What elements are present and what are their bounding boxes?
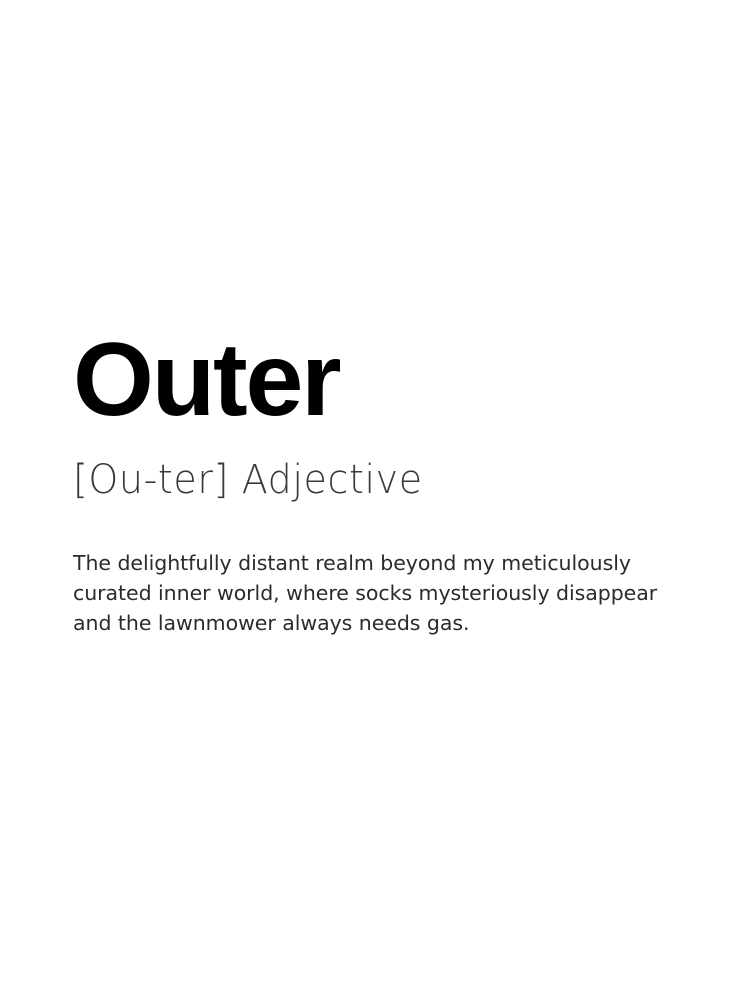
pronunciation-spacer (229, 456, 242, 503)
definition-content-block: Outer [Ou-ter] Adjective The delightfull… (73, 330, 673, 638)
definition-line: and the lawnmower always needs gas. (73, 608, 663, 638)
pronunciation-bracketed: [Ou-ter] (73, 456, 229, 503)
definition-poster: Outer [Ou-ter] Adjective The delightfull… (0, 0, 748, 1000)
part-of-speech-label: Adjective (242, 456, 423, 503)
definition-text: The delightfully distant realm beyond my… (73, 548, 663, 638)
pronunciation-line: [Ou-ter] Adjective (73, 454, 673, 505)
headword-title: Outer (73, 330, 673, 430)
definition-line: curated inner world, where socks mysteri… (73, 578, 663, 608)
definition-line: The delightfully distant realm beyond my… (73, 548, 663, 578)
